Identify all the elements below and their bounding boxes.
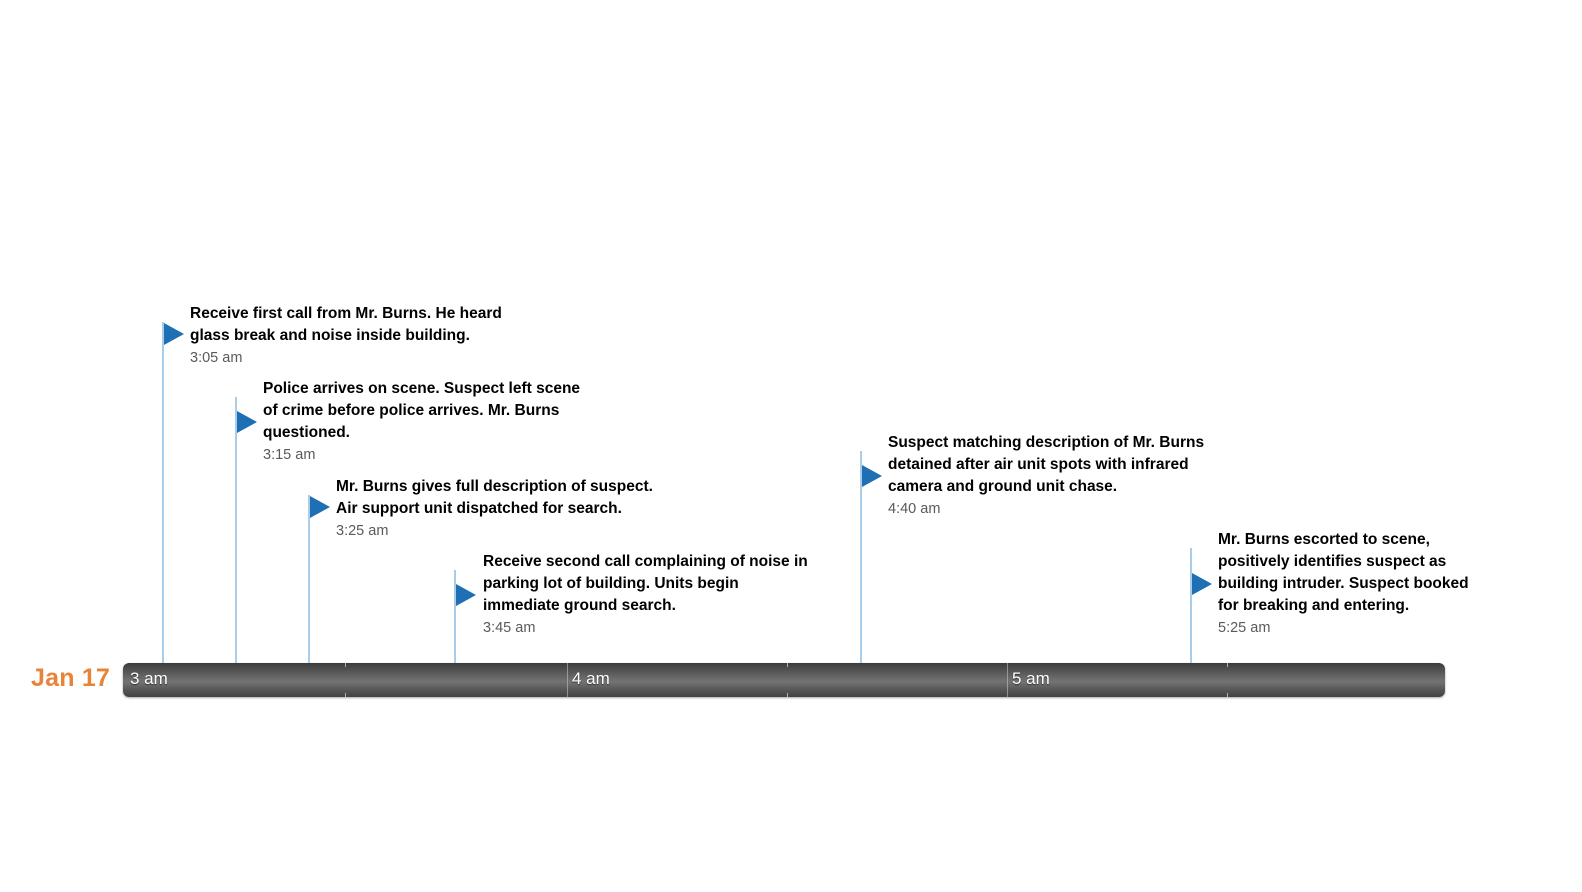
event-desc-line: for breaking and entering. [1218, 595, 1469, 617]
event-desc-line: of crime before police arrives. Mr. Burn… [263, 400, 580, 422]
half-hour-tick [787, 693, 788, 697]
event-text-block: Police arrives on scene. Suspect left sc… [263, 378, 580, 466]
hour-separator [1007, 663, 1008, 697]
hour-label-3am: 3 am [130, 669, 168, 689]
event-desc-line: questioned. [263, 422, 580, 444]
event-text-block: Mr. Burns escorted to scene, positively … [1218, 529, 1469, 639]
half-hour-tick [1227, 693, 1228, 697]
event-flag-icon[interactable] [1192, 573, 1212, 595]
event-desc-line: immediate ground search. [483, 595, 808, 617]
event-desc-line: parking lot of building. Units begin [483, 573, 808, 595]
hour-separator [567, 663, 568, 697]
event-text-block: Suspect matching description of Mr. Burn… [888, 432, 1204, 520]
event-flag-icon[interactable] [862, 465, 882, 487]
hour-label-4am: 4 am [572, 669, 610, 689]
half-hour-tick [345, 693, 346, 697]
event-desc-line: Air support unit dispatched for search. [336, 498, 653, 520]
event-time: 5:25 am [1218, 618, 1469, 639]
event-desc-line: camera and ground unit chase. [888, 476, 1204, 498]
event-desc-line: Mr. Burns escorted to scene, [1218, 529, 1469, 551]
event-flag-icon[interactable] [310, 496, 330, 518]
event-connector [1190, 548, 1192, 663]
event-desc-line: Suspect matching description of Mr. Burn… [888, 432, 1204, 454]
event-connector [162, 322, 164, 663]
event-desc-line: Receive first call from Mr. Burns. He he… [190, 303, 502, 325]
timeline-canvas: Jan 17 3 am 4 am 5 am Receive first call… [0, 0, 1582, 892]
event-connector [235, 397, 237, 663]
event-desc-line: detained after air unit spots with infra… [888, 454, 1204, 476]
half-hour-tick [345, 663, 346, 667]
event-time: 3:15 am [263, 445, 580, 466]
event-time: 3:05 am [190, 348, 502, 369]
timeline-axis-bar[interactable]: 3 am 4 am 5 am [123, 663, 1445, 697]
date-label: Jan 17 [31, 664, 110, 693]
event-flag-icon[interactable] [456, 584, 476, 606]
event-desc-line: building intruder. Suspect booked [1218, 573, 1469, 595]
event-flag-icon[interactable] [164, 323, 184, 345]
hour-label-5am: 5 am [1012, 669, 1050, 689]
event-text-block: Mr. Burns gives full description of susp… [336, 476, 653, 542]
event-desc-line: Receive second call complaining of noise… [483, 551, 808, 573]
event-text-block: Receive first call from Mr. Burns. He he… [190, 303, 502, 369]
event-flag-icon[interactable] [237, 411, 257, 433]
event-text-block: Receive second call complaining of noise… [483, 551, 808, 639]
event-connector [308, 495, 310, 663]
half-hour-tick [1227, 663, 1228, 667]
event-time: 3:25 am [336, 521, 653, 542]
event-desc-line: Police arrives on scene. Suspect left sc… [263, 378, 580, 400]
half-hour-tick [787, 663, 788, 667]
event-desc-line: positively identifies suspect as [1218, 551, 1469, 573]
event-time: 3:45 am [483, 618, 808, 639]
event-desc-line: glass break and noise inside building. [190, 325, 502, 347]
event-desc-line: Mr. Burns gives full description of susp… [336, 476, 653, 498]
event-time: 4:40 am [888, 499, 1204, 520]
